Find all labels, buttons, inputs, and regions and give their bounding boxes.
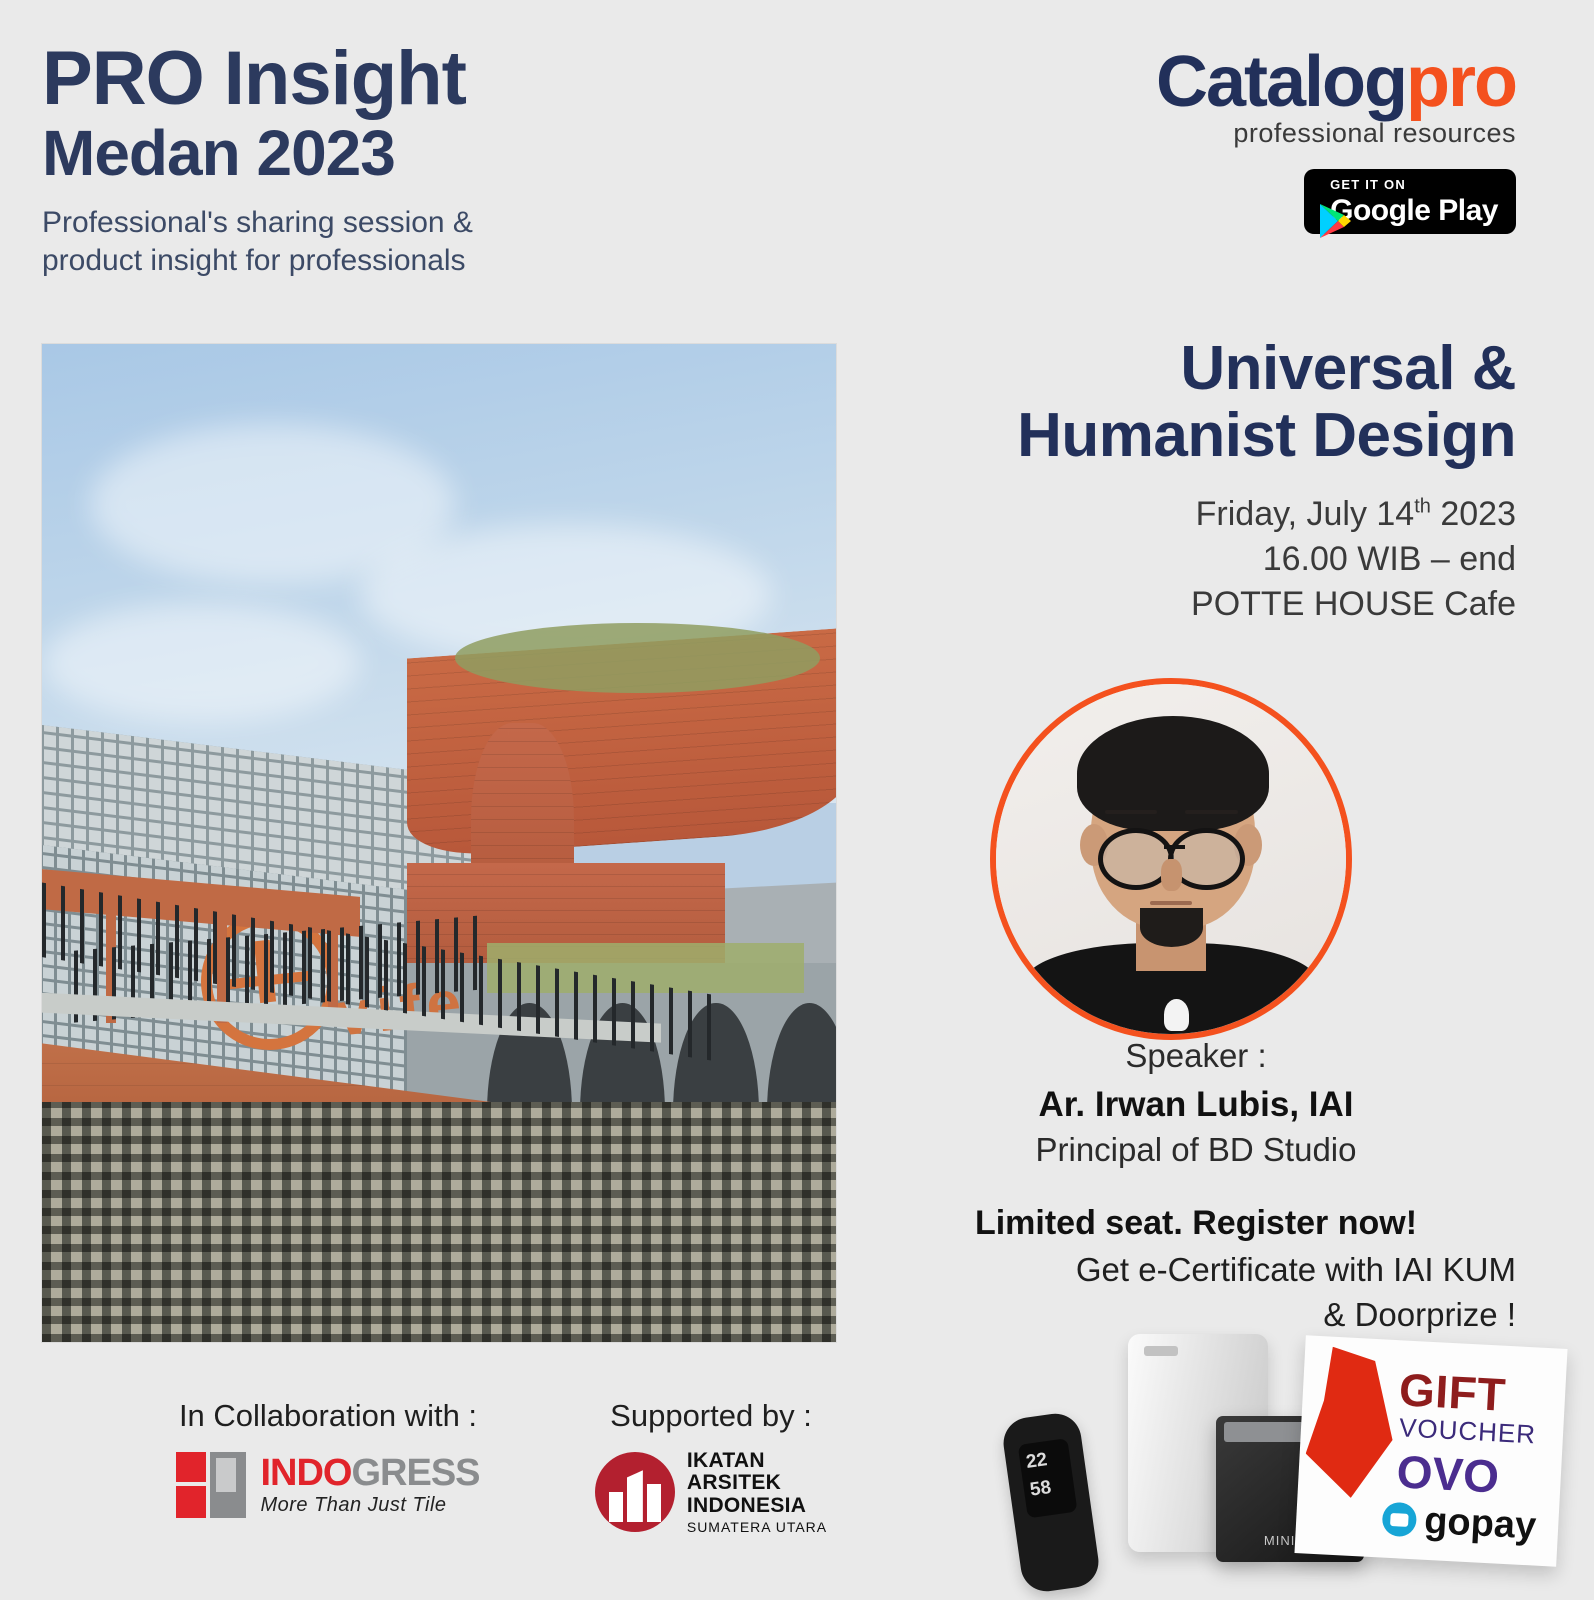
cta-line2: Get e-Certificate with IAI KUM [876, 1249, 1516, 1290]
indogress-name-gray: GRESS [351, 1452, 479, 1494]
photo-roof-greenery [455, 623, 820, 693]
iai-line1: IKATAN [687, 1450, 827, 1472]
brand-name-dark: Catalog [1156, 42, 1406, 122]
indogress-name-red: INDO [260, 1452, 351, 1494]
page-subtitle-line2: product insight for professionals [42, 242, 702, 280]
event-date-suffix: th [1414, 496, 1431, 518]
gift-voucher-prize: GIFT VOUCHER OVO gopay [1294, 1335, 1567, 1566]
speaker-eyebrow [1185, 810, 1238, 814]
page-subtitle: Professional's sharing session & product… [42, 204, 702, 281]
power-bank-port [1144, 1346, 1178, 1356]
speaker-mouth [1150, 901, 1192, 905]
page-title-line2: Medan 2023 [42, 120, 702, 187]
speaker-glasses-bridge [1164, 845, 1185, 849]
supported-by-label: Supported by : [566, 1398, 856, 1434]
cta-headline: Limited seat. Register now! [876, 1202, 1516, 1245]
indogress-tile-red-bottom [176, 1486, 206, 1518]
speaker-nose [1161, 859, 1182, 891]
speaker-shirt-logo [1164, 999, 1189, 1031]
google-play-big-label: Google Play [1330, 196, 1498, 226]
google-play-small-label: GET IT ON [1330, 177, 1406, 192]
event-title-line2: Humanist Design [876, 403, 1516, 470]
iai-line2: ARSITEK [687, 1472, 827, 1494]
event-date: Friday, July 14th 2023 [876, 492, 1516, 537]
iai-building-left [609, 1492, 623, 1522]
brand-name-accent: pro [1406, 42, 1516, 122]
event-date-year: 2023 [1431, 495, 1516, 533]
brand-tagline: professional resources [996, 118, 1516, 149]
brand-logo: Catalogpro [996, 48, 1516, 116]
indogress-name: INDOGRESS [260, 1454, 479, 1492]
iai-text: IKATAN ARSITEK INDONESIA SUMATERA UTARA [687, 1450, 827, 1535]
event-time: 16.00 WIB – end [876, 537, 1516, 582]
iai-circle-icon [595, 1452, 675, 1532]
speaker-role: Principal of BD Studio [876, 1130, 1516, 1170]
speaker-info: Speaker : Ar. Irwan Lubis, IAI Principal… [876, 1036, 1516, 1169]
indogress-tile-red-top [176, 1452, 206, 1482]
iai-building-center [627, 1470, 643, 1522]
speaker-name: Ar. Irwan Lubis, IAI [876, 1084, 1516, 1126]
iai-line3: INDONESIA [687, 1495, 827, 1517]
voucher-ovo-label: OVO [1395, 1444, 1500, 1503]
iai-building-right [647, 1484, 661, 1522]
indogress-logo: INDOGRESS More Than Just Tile [118, 1452, 538, 1518]
event-title-line1: Universal & [876, 336, 1516, 403]
event-date-text: Friday, July 14 [1196, 495, 1415, 533]
google-play-badge[interactable]: GET IT ON Google Play [1304, 169, 1516, 234]
event-block: Universal & Humanist Design Friday, July… [876, 336, 1516, 628]
poster-root: PRO Insight Medan 2023 Professional's sh… [0, 0, 1594, 1600]
event-venue: POTTE HOUSE Cafe [876, 582, 1516, 627]
voucher-gopay-label: gopay [1423, 1500, 1537, 1549]
speaker-eyebrow [1105, 810, 1158, 814]
poster-title-block: PRO Insight Medan 2023 Professional's sh… [42, 42, 702, 280]
photo-cloud [42, 603, 360, 723]
gopay-icon [1382, 1502, 1418, 1538]
page-title-line1: PRO Insight [42, 42, 702, 116]
page-subtitle-line1: Professional's sharing session & [42, 204, 702, 242]
indogress-tile-light [216, 1458, 236, 1492]
iai-line4: SUMATERA UTARA [687, 1520, 827, 1535]
collaboration-block: In Collaboration with : INDOGRESS More T… [118, 1398, 538, 1518]
brand-block: Catalogpro professional resources GET IT… [996, 48, 1516, 234]
doorprize-items: 22 58 MINISO GIFT VOUCHER OVO gopay [1000, 1320, 1594, 1600]
speaker-avatar [990, 678, 1352, 1040]
indogress-mark-icon [176, 1452, 246, 1518]
speaker-label: Speaker : [876, 1036, 1516, 1076]
architecture-photo: vife [42, 344, 836, 1342]
photo-grass-paver-courtyard [42, 1102, 836, 1342]
speaker-beard [1140, 908, 1203, 947]
indogress-text: INDOGRESS More Than Just Tile [260, 1454, 479, 1517]
gift-ribbon-icon [1304, 1346, 1398, 1500]
event-meta: Friday, July 14th 2023 16.00 WIB – end P… [876, 492, 1516, 628]
cta-block: Limited seat. Register now! Get e-Certif… [876, 1202, 1516, 1335]
fitness-band-prize: 22 58 [1000, 1410, 1102, 1594]
supported-by-block: Supported by : IKATAN ARSITEK INDONESIA … [566, 1398, 856, 1535]
fitness-band-time-bottom: 58 [1029, 1477, 1053, 1502]
collaboration-label: In Collaboration with : [118, 1398, 538, 1434]
fitness-band-time-top: 22 [1025, 1449, 1049, 1474]
iai-logo: IKATAN ARSITEK INDONESIA SUMATERA UTARA [566, 1450, 856, 1535]
google-play-text: GET IT ON Google Play [1330, 177, 1498, 226]
indogress-tagline: More Than Just Tile [260, 1494, 479, 1517]
